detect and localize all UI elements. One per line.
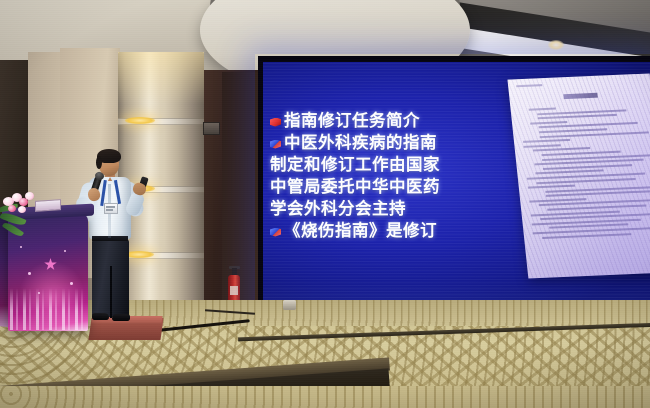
badge-text-line	[106, 209, 113, 211]
slide-line-3-text: 制定和修订工作由国家	[270, 154, 440, 176]
sparkle-icon	[64, 250, 66, 252]
sparkle-icon	[28, 272, 31, 275]
marble-column-top-glow	[118, 52, 204, 104]
slide-line-2: 中医外科疾病的指南	[270, 132, 500, 154]
flower-bloom-pink	[8, 205, 16, 212]
floor-power-outlet[interactable]	[283, 300, 296, 310]
document-glare	[507, 73, 650, 278]
flower-bloom	[18, 206, 26, 213]
column-accent-light-icon	[125, 117, 155, 124]
speaker-hair-side	[96, 156, 102, 169]
slide-text-block: 指南修订任务简介 中医外科疾病的指南 制定和修订工作由国家 中管局委托中华中医药…	[270, 110, 500, 242]
sparkle-icon	[20, 246, 22, 248]
lectern-name-plate	[35, 199, 61, 212]
slide-line-4: 中管局委托中华中医药	[270, 176, 500, 198]
slide-line-3: 制定和修订工作由国家	[270, 154, 500, 176]
fire-extinguisher-label	[230, 286, 238, 295]
badge-text-line	[106, 206, 115, 208]
slide-line-1-text: 指南修订任务简介	[284, 110, 420, 132]
slide-line-6: 《烧伤指南》是修订	[270, 220, 500, 242]
speaker-shoe-left	[92, 313, 109, 320]
sparkle-icon	[38, 292, 40, 294]
lower-floor-carpet	[0, 386, 650, 408]
slide-line-5-text: 学会外科分会主持	[270, 198, 406, 220]
slide-line-1: 指南修订任务简介	[270, 110, 500, 132]
bullet-marker-icon	[270, 228, 281, 237]
bullet-marker-icon	[270, 140, 281, 149]
slide-document-image	[507, 73, 650, 278]
slide-line-4-text: 中管局委托中华中医药	[270, 176, 440, 198]
lectern-cityscape-graphic	[10, 288, 86, 330]
flower-bloom	[25, 192, 34, 200]
conference-hall-photo: 指南修订任务简介 中医外科疾病的指南 制定和修订工作由国家 中管局委托中华中医药…	[0, 0, 650, 408]
sparkle-icon	[70, 282, 73, 285]
speaker-shoe-right	[112, 314, 130, 321]
slide-line-5: 学会外科分会主持	[270, 198, 500, 220]
wall-control-box[interactable]	[203, 122, 220, 135]
ceiling-downlight-icon	[548, 40, 564, 50]
slide-line-2-text: 中医外科疾病的指南	[284, 132, 437, 154]
bullet-marker-icon	[270, 118, 281, 127]
slide-line-6-text: 《烧伤指南》是修订	[284, 220, 437, 242]
speaker-leg-separation	[110, 266, 112, 318]
